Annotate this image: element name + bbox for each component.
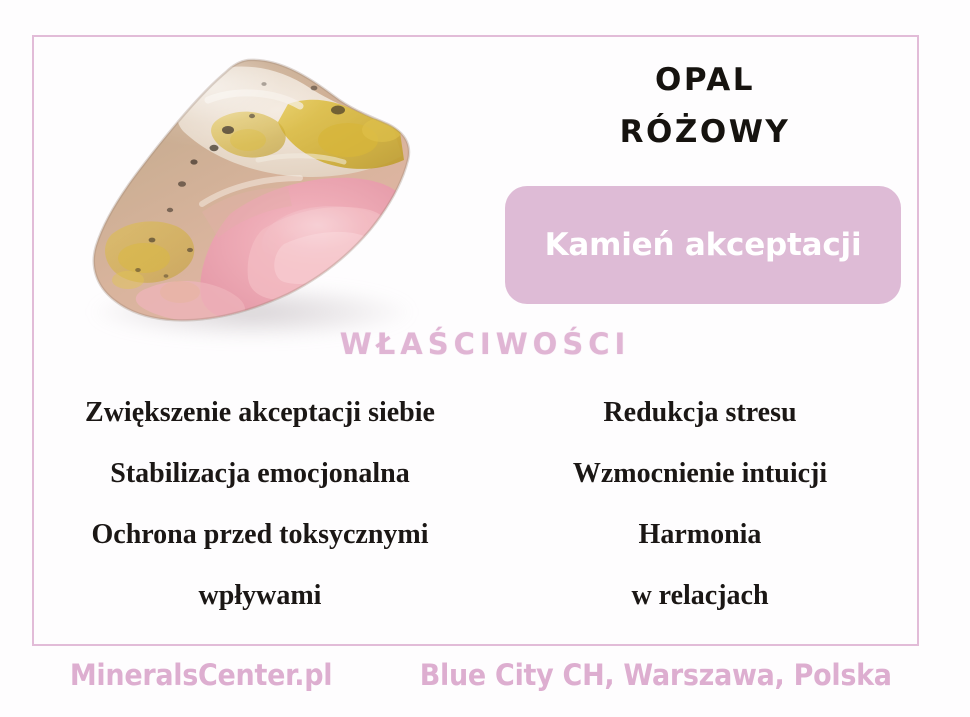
product-image-pink-opal: [52, 44, 452, 349]
properties-heading: WŁAŚCIWOŚCI: [0, 327, 970, 361]
property-item: Ochrona przed toksycznymi: [40, 519, 480, 551]
infographic-card: Opal różowy Kamień akceptacji WŁAŚCIWOŚC…: [0, 0, 970, 717]
page-title: Opal różowy: [505, 50, 905, 154]
badge-label: Kamień akceptacji: [545, 227, 862, 263]
footer: MineralsCenter.pl Blue City CH, Warszawa…: [0, 658, 970, 692]
property-item: Zwiększenie akceptacji siebie: [40, 397, 480, 429]
title-line-2: różowy: [505, 102, 905, 154]
property-item: Stabilizacja emocjonalna: [40, 458, 480, 490]
property-item: Harmonia: [480, 519, 920, 551]
property-item: Wzmocnienie intuicji: [480, 458, 920, 490]
title-line-1: Opal: [505, 50, 905, 102]
property-item: w relacjach: [480, 580, 920, 612]
pink-opal-stone-illustration: [52, 44, 452, 349]
footer-location: Blue City CH, Warszawa, Polska: [420, 658, 892, 692]
footer-brand: MineralsCenter.pl: [70, 658, 332, 692]
property-item: wpływami: [40, 580, 480, 612]
stone-epithet-badge: Kamień akceptacji: [505, 186, 901, 304]
property-item: Redukcja stresu: [480, 397, 920, 429]
properties-grid: Zwiększenie akceptacji siebie Redukcja s…: [40, 382, 920, 626]
